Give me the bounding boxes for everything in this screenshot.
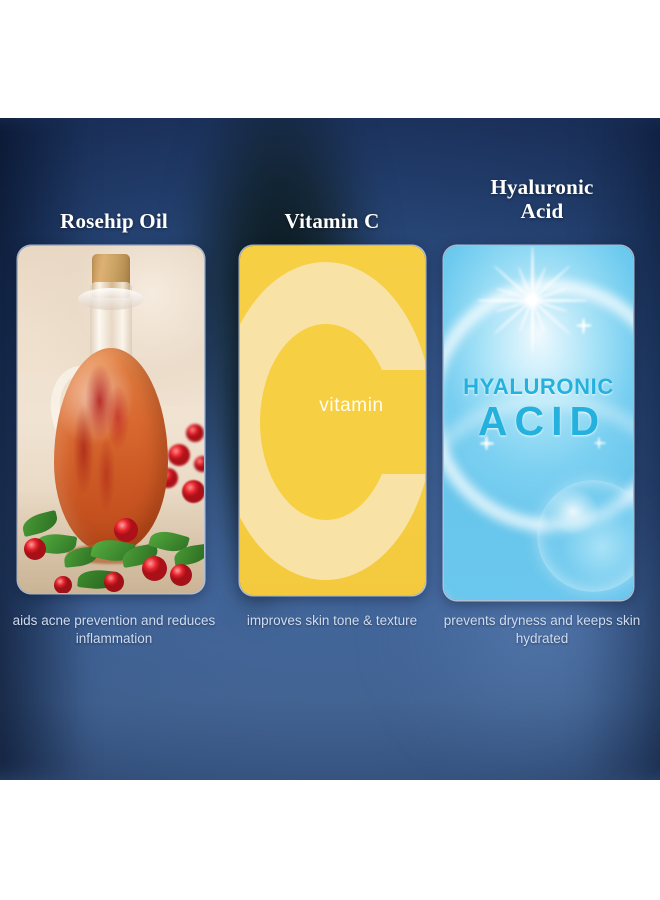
ingredient-caption-vitamin-c: improves skin tone & texture	[226, 612, 438, 630]
hyaluronic-acid-graphic: HYALURONIC ACID	[444, 246, 633, 600]
rosehip-berry	[186, 424, 204, 442]
ha-title-line-1: HYALURONIC	[444, 374, 633, 400]
ingredient-column-hyaluronic-acid: Hyaluronic Acid	[432, 118, 652, 780]
rosehip-berry	[54, 576, 72, 593]
oil-petal-streaks	[54, 348, 168, 552]
rosehip-oil-photo	[18, 246, 204, 593]
ingredient-card-rosehip-oil[interactable]	[18, 246, 204, 593]
bottle-body	[54, 348, 168, 552]
rosehip-berry	[114, 518, 138, 542]
ingredient-column-vitamin-c: Vitamin C vitamin improves skin tone & t…	[226, 118, 438, 780]
letter-c-mark	[240, 262, 425, 580]
rosehip-berry	[24, 538, 46, 560]
ha-title-line-2: ACID	[444, 398, 633, 445]
bottle-collar	[78, 288, 144, 310]
starburst-icon	[474, 246, 590, 358]
rosehip-berry	[194, 456, 204, 472]
vitamin-c-graphic: vitamin	[240, 246, 425, 595]
vitamin-word-label: vitamin	[240, 395, 425, 417]
ingredient-heading-hyaluronic-acid: Hyaluronic Acid	[432, 176, 652, 223]
ingredient-column-rosehip-oil: Rosehip Oil	[8, 118, 220, 780]
ingredient-caption-rosehip-oil: aids acne prevention and reduces inflamm…	[8, 612, 220, 648]
oil-bottle	[53, 282, 169, 552]
heading-line-2: Acid	[432, 200, 652, 224]
infographic-panel: Rosehip Oil	[0, 118, 660, 780]
ingredient-columns: Rosehip Oil	[0, 118, 660, 780]
starburst-core	[519, 287, 545, 313]
ingredient-caption-hyaluronic-acid: prevents dryness and keeps skin hydrated	[432, 612, 652, 648]
rosehip-berry	[168, 444, 190, 466]
rosehip-berry	[170, 564, 192, 586]
rosehip-berry	[182, 480, 204, 503]
rosehip-berry	[104, 572, 124, 592]
letter-c-aperture	[351, 370, 425, 474]
heading-line-1: Hyaluronic	[432, 176, 652, 200]
ingredient-heading-vitamin-c: Vitamin C	[226, 210, 438, 234]
ingredient-card-hyaluronic-acid[interactable]: HYALURONIC ACID	[444, 246, 633, 600]
sparkle-icon	[582, 318, 585, 334]
rosehip-berry	[142, 556, 167, 581]
ingredient-heading-rosehip-oil: Rosehip Oil	[8, 210, 220, 234]
ingredient-card-vitamin-c[interactable]: vitamin	[240, 246, 425, 595]
